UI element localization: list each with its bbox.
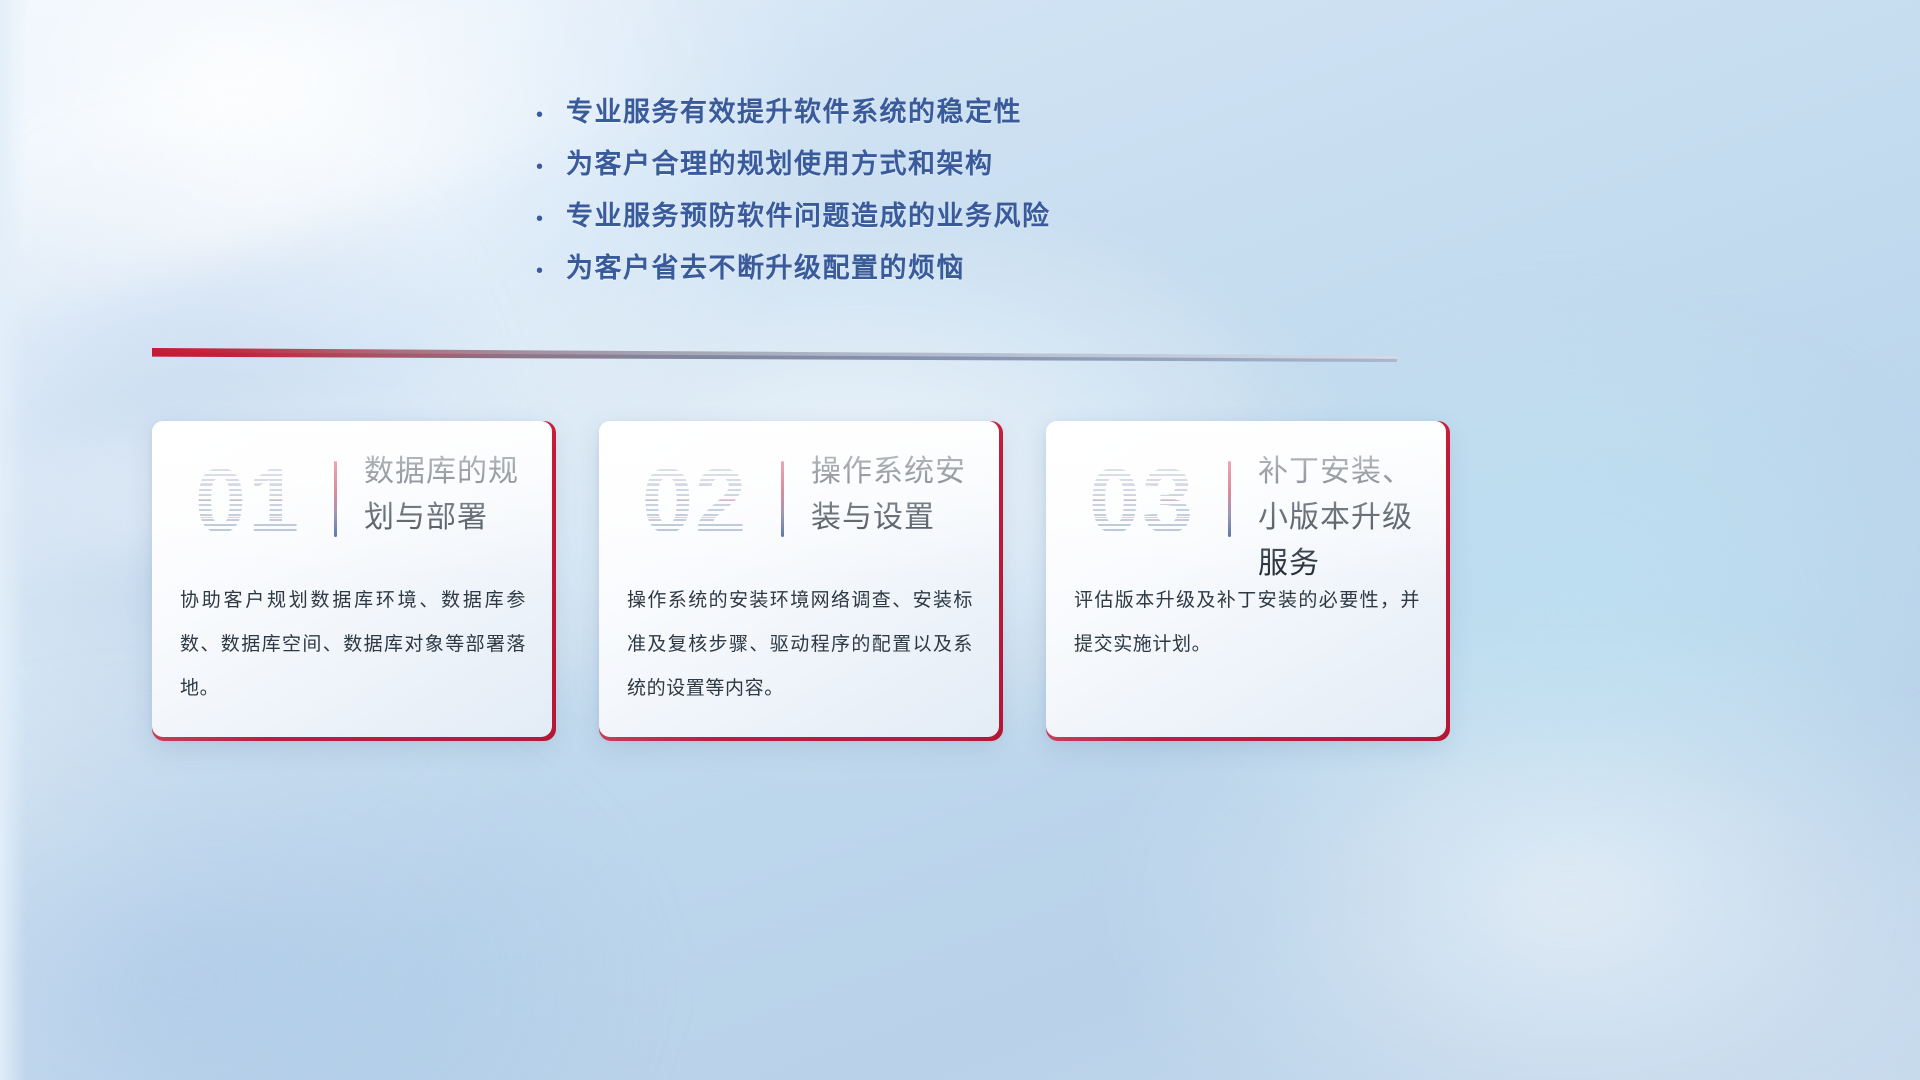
background-left-edge-highlight: [0, 0, 26, 1080]
card-number-03: 03: [1072, 449, 1212, 553]
card-number-01: 01: [178, 449, 318, 553]
card-number-02: 02: [625, 449, 765, 553]
background-glow-bottom-left: [0, 700, 640, 1080]
slide-canvas: • 专业服务有效提升软件系统的稳定性 • 为客户合理的规划使用方式和架构 • 专…: [0, 0, 1920, 1080]
card-title-rule: [334, 461, 337, 537]
bullet-text-1: 专业服务有效提升软件系统的稳定性: [566, 90, 1022, 129]
list-item: • 专业服务有效提升软件系统的稳定性: [536, 90, 1436, 142]
service-card-01[interactable]: 01 01 数据库的规划与部署 协助客户规划数据库环境、数据库参数、数据库空间、…: [152, 421, 556, 741]
card-title-rule: [781, 461, 784, 537]
section-divider: [152, 348, 1397, 362]
card-surface: 03 03 补丁安装、小版本升级服务 评估版本升级及补丁安装的必要性，并提交实施…: [1046, 421, 1446, 737]
card-title-01: 数据库的规划与部署: [364, 449, 538, 541]
bullet-dot-icon: •: [536, 261, 566, 281]
benefits-bullet-list: • 专业服务有效提升软件系统的稳定性 • 为客户合理的规划使用方式和架构 • 专…: [536, 90, 1436, 298]
card-surface: 01 01 数据库的规划与部署 协助客户规划数据库环境、数据库参数、数据库空间、…: [152, 421, 552, 737]
card-body-01: 协助客户规划数据库环境、数据库参数、数据库空间、数据库对象等部署落地。: [180, 579, 526, 711]
list-item: • 专业服务预防软件问题造成的业务风险: [536, 194, 1436, 246]
list-item: • 为客户省去不断升级配置的烦恼: [536, 246, 1436, 298]
list-item: • 为客户合理的规划使用方式和架构: [536, 142, 1436, 194]
bullet-text-2: 为客户合理的规划使用方式和架构: [566, 142, 994, 181]
card-title-rule: [1228, 461, 1231, 537]
card-surface: 02 02 操作系统安装与设置 操作系统的安装环境网络调查、安装标准及复核步骤、…: [599, 421, 999, 737]
bullet-dot-icon: •: [536, 157, 566, 177]
bullet-dot-icon: •: [536, 209, 566, 229]
bullet-dot-icon: •: [536, 105, 566, 125]
card-header: 01 01 数据库的规划与部署: [152, 443, 552, 553]
bullet-text-4: 为客户省去不断升级配置的烦恼: [566, 246, 965, 285]
bullet-text-3: 专业服务预防软件问题造成的业务风险: [566, 194, 1051, 233]
service-card-03[interactable]: 03 03 补丁安装、小版本升级服务 评估版本升级及补丁安装的必要性，并提交实施…: [1046, 421, 1450, 741]
service-card-02[interactable]: 02 02 操作系统安装与设置 操作系统的安装环境网络调查、安装标准及复核步骤、…: [599, 421, 1003, 741]
card-title-02: 操作系统安装与设置: [811, 449, 985, 541]
card-body-02: 操作系统的安装环境网络调查、安装标准及复核步骤、驱动程序的配置以及系统的设置等内…: [627, 579, 973, 711]
card-header: 03 03 补丁安装、小版本升级服务: [1046, 443, 1446, 553]
service-card-group: 01 01 数据库的规划与部署 协助客户规划数据库环境、数据库参数、数据库空间、…: [152, 421, 1452, 741]
card-title-03: 补丁安装、小版本升级服务: [1258, 449, 1432, 587]
card-header: 02 02 操作系统安装与设置: [599, 443, 999, 553]
card-body-03: 评估版本升级及补丁安装的必要性，并提交实施计划。: [1074, 579, 1420, 667]
